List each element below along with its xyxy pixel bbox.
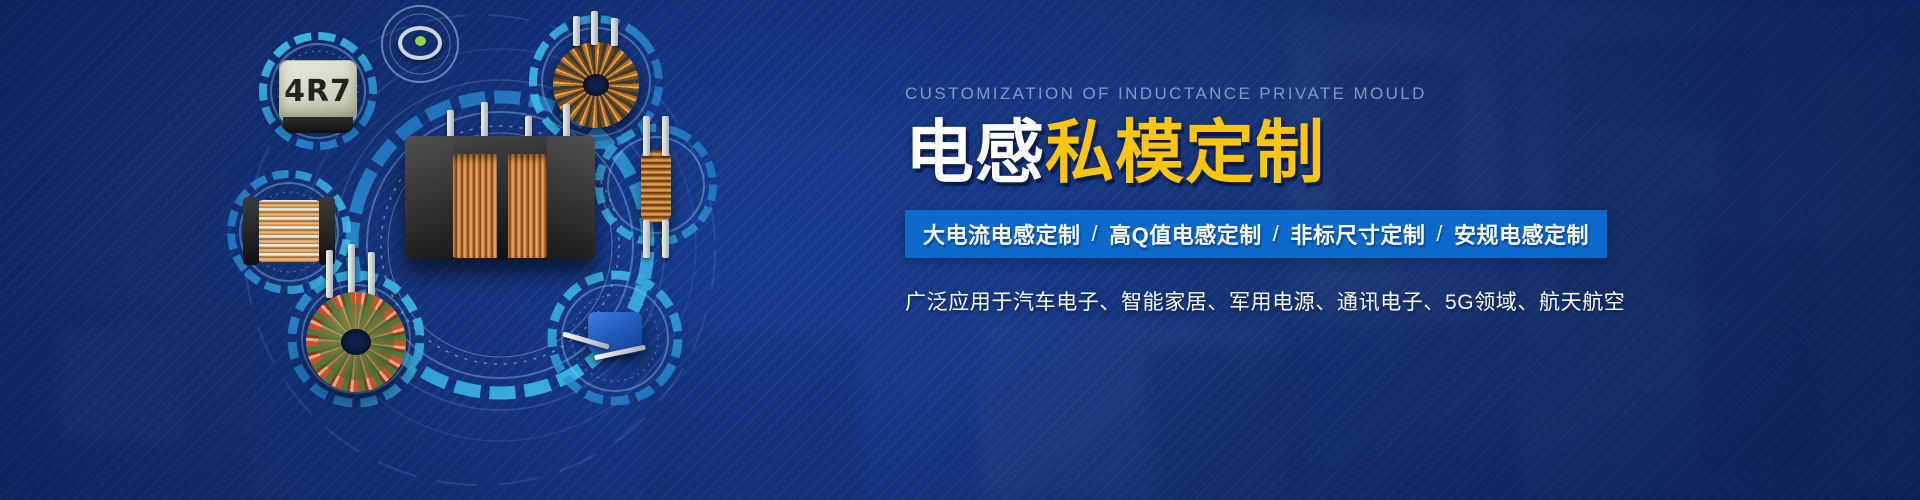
bobbin-choke bbox=[243, 200, 335, 262]
wire-loop-inductor bbox=[398, 26, 442, 62]
headline-white-part: 电感 bbox=[905, 113, 1045, 193]
service-pill-bar[interactable]: 大电流电感定制 / 高Q值电感定制 / 非标尺寸定制 / 安规电感定制 bbox=[905, 210, 1607, 258]
pill-item-2[interactable]: 非标尺寸定制 bbox=[1290, 218, 1425, 250]
pill-separator-0: / bbox=[1081, 221, 1110, 247]
pill-separator-2: / bbox=[1425, 221, 1454, 247]
smd-power-inductor-4r7: 4R7 bbox=[279, 60, 357, 122]
hero-banner: 4R7 bbox=[0, 0, 1920, 500]
common-mode-choke-large bbox=[405, 110, 595, 260]
pill-item-3[interactable]: 安规电感定制 bbox=[1454, 218, 1589, 250]
headline-gold-part: 私模定制 bbox=[1045, 113, 1325, 193]
axial-rod-choke bbox=[641, 150, 671, 222]
pill-item-0[interactable]: 大电流电感定制 bbox=[923, 218, 1081, 250]
application-description: 广泛应用于汽车电子、智能家居、军用电源、通讯电子、5G领域、航天航空 bbox=[905, 286, 1585, 316]
smd-chip-body: 4R7 bbox=[279, 60, 357, 122]
blue-radial-inductor bbox=[588, 312, 642, 354]
green-toroid-choke bbox=[306, 292, 406, 392]
pill-item-1[interactable]: 高Q值电感定制 bbox=[1109, 218, 1262, 250]
pill-separator-1: / bbox=[1262, 221, 1291, 247]
page-title: 电感私模定制 bbox=[905, 118, 1585, 188]
hero-text-block: CUSTOMIZATION OF INDUCTANCE PRIVATE MOUL… bbox=[905, 84, 1585, 316]
smd-chip-label: 4R7 bbox=[284, 74, 352, 109]
smd-chip-base bbox=[283, 117, 353, 133]
eyebrow-text: CUSTOMIZATION OF INDUCTANCE PRIVATE MOUL… bbox=[905, 84, 1585, 104]
